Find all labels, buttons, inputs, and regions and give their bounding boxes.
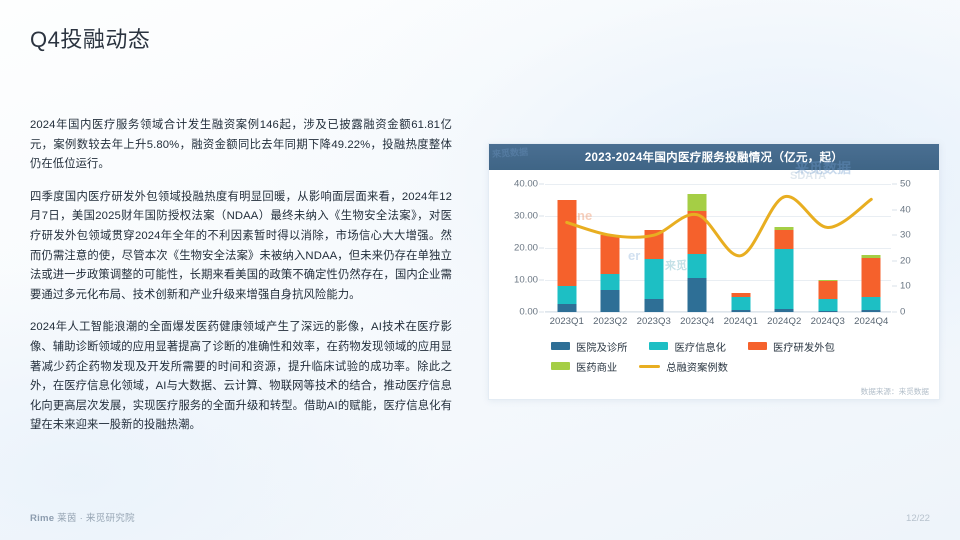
y-axis-tick-label: 0.00 [519,307,538,318]
footer-brand-latin: Rime [30,513,54,524]
y2-axis-tick-label: 10 [900,281,911,292]
x-axis-tick-label: 2024Q2 [767,316,801,327]
chart-legend: 医院及诊所医疗信息化医疗研发外包医药商业总融资案例数 [531,338,919,374]
footer-brand: Rime 莱茵 · 来觅研究院 [30,510,135,524]
y-axis-tick-label: 20.00 [514,243,538,254]
chart-plot-area: 0.0010.0020.0030.0040.0001020304050 [545,184,891,312]
x-axis-tick-label: 2023Q2 [593,316,627,327]
footer-brand-cn: 莱茵 · 来觅研究院 [57,513,135,524]
x-axis-tick-label: 2023Q4 [680,316,714,327]
chart-card: 2023-2024年国内医疗服务投融情况（亿元，起） 0.0010.0020.0… [488,143,940,400]
legend-label: 总融资案例数 [666,359,728,374]
page-title: Q4投融动态 [30,22,150,54]
y-axis-tick-label: 40.00 [514,179,538,190]
y-axis-tick-mark [539,248,544,249]
x-axis-tick-label: 2023Q3 [637,316,671,327]
legend-item[interactable]: 医疗信息化 [649,338,725,354]
legend-color-swatch [748,342,767,350]
y-axis-tick-label: 10.00 [514,275,538,286]
y-axis-tick-mark [539,280,544,281]
slide-root: Q4投融动态 2024年国内医疗服务领域合计发生融资案例146起，涉及已披露融资… [0,0,960,540]
legend-label: 医药商业 [576,359,617,374]
chart-header: 2023-2024年国内医疗服务投融情况（亿元，起） [489,144,939,170]
chart-source-note: 数据来源：来觅数据 [861,386,929,397]
x-axis-tick-label: 2024Q4 [854,316,888,327]
paragraph-2: 四季度国内医疗研发外包领域投融热度有明显回暖，从影响面层面来看，2024年12月… [30,188,452,306]
legend-color-swatch [551,342,570,350]
legend-item[interactable]: 医院及诊所 [551,338,627,354]
x-axis-tick-label: 2024Q1 [724,316,758,327]
page-number: 12/22 [906,513,930,524]
legend-label: 医疗信息化 [674,339,725,354]
legend-line-swatch [639,365,660,368]
y-axis-tick-mark [539,184,544,185]
legend-label: 医疗研发外包 [773,339,835,354]
line-path [567,196,872,255]
chart-x-tick-labels: 2023Q12023Q22023Q32023Q42024Q12024Q22024… [545,316,891,332]
y-axis-tick-mark [539,312,544,313]
x-axis-tick-label: 2023Q1 [550,316,584,327]
y2-axis-tick-label: 40 [900,204,911,215]
chart-body: 0.0010.0020.0030.0040.0001020304050 2023… [489,170,939,401]
legend-color-swatch [649,342,668,350]
y2-axis-tick-label: 50 [900,179,911,190]
y2-axis-tick-label: 20 [900,255,911,266]
legend-item[interactable]: 医药商业 [551,358,617,374]
y2-axis-tick-label: 30 [900,230,911,241]
paragraph-3: 2024年人工智能浪潮的全面爆发医药健康领域产生了深远的影像，AI技术在医疗影像… [30,318,452,436]
legend-item[interactable]: 医疗研发外包 [748,338,835,354]
gridline [545,312,891,313]
x-axis-tick-label: 2024Q3 [811,316,845,327]
paragraph-1: 2024年国内医疗服务领域合计发生融资案例146起，涉及已披露融资金额61.81… [30,116,452,175]
legend-color-swatch [551,362,570,370]
legend-label: 医院及诊所 [576,339,627,354]
chart-title: 2023-2024年国内医疗服务投融情况（亿元，起） [585,149,843,165]
y-axis-tick-label: 30.00 [514,211,538,222]
legend-item[interactable]: 总融资案例数 [639,358,728,374]
body-text-column: 2024年国内医疗服务领域合计发生融资案例146起，涉及已披露融资金额61.81… [30,116,452,436]
y-axis-tick-mark [539,216,544,217]
y2-axis-tick-label: 0 [900,307,905,318]
chart-line-series [545,184,893,312]
